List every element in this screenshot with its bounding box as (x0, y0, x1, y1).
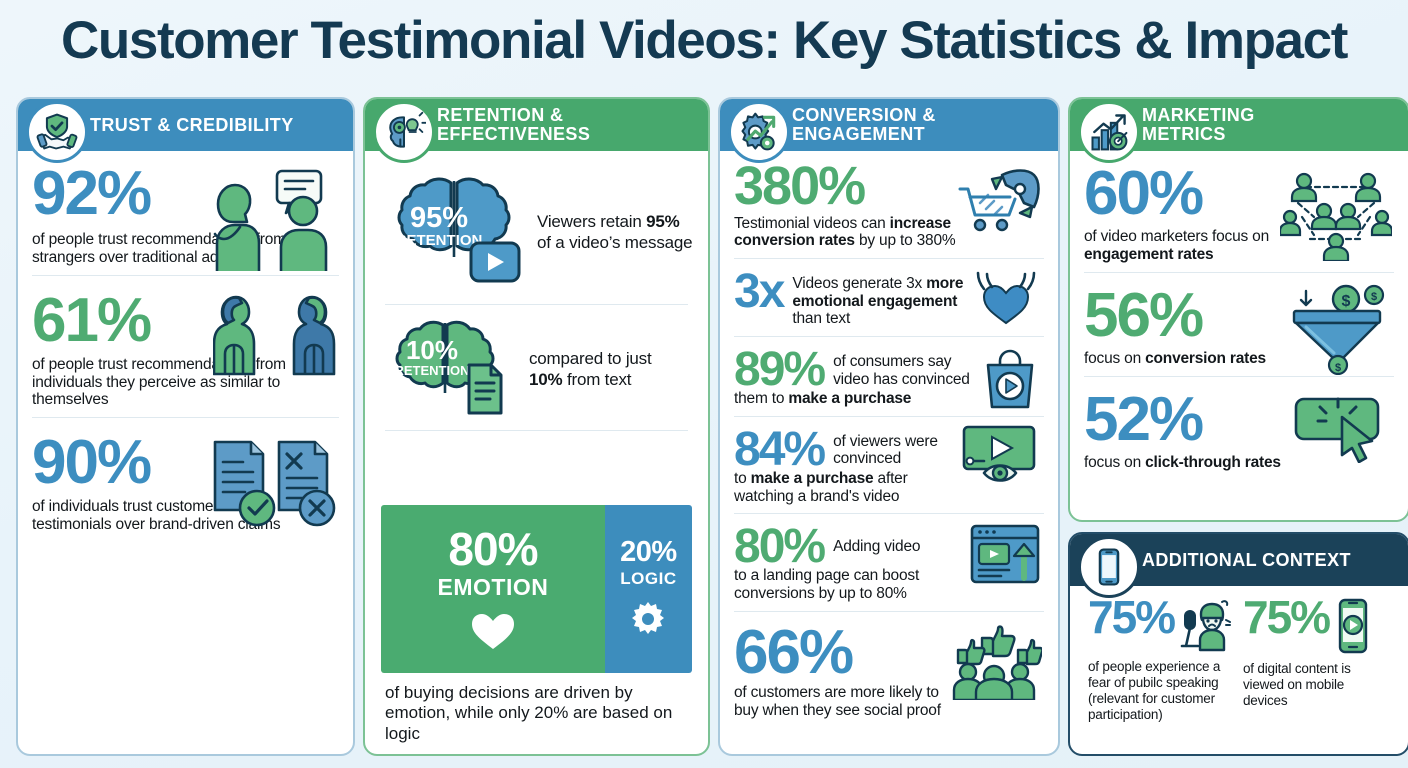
stat-66: 66% of customers are more likely to buy … (734, 611, 1044, 726)
column-retention: RETENTION & EFFECTIVENESS 95% RETENTION (363, 97, 710, 756)
stat-61: 61% of people trust recommendations from… (32, 275, 339, 415)
stat-row: 75% (1088, 596, 1235, 657)
gear-icon (628, 599, 668, 639)
rocket-cart-icon (958, 167, 1042, 241)
stat-value: 3x (734, 269, 783, 314)
split-emotion: 80% EMOTION (381, 505, 605, 673)
panel-marketing-metrics: MARKETING METRICS (1068, 97, 1408, 522)
stat-75-fear: 75% (1088, 596, 1235, 723)
split-bar: 80% EMOTION 20% LOGIC (381, 505, 692, 673)
svg-text:RETENTION: RETENTION (396, 232, 483, 249)
phone-play-icon (1331, 598, 1375, 659)
brain-document-icon: 10% RETENTION (385, 319, 515, 420)
stat-52: 52% focus on click-through rates (1084, 376, 1394, 478)
svg-text:10%: 10% (406, 335, 458, 365)
stat-95-retention: 95% RETENTION Viewers retain 95% of a vi… (379, 161, 694, 300)
shopping-bag-play-icon (978, 345, 1042, 411)
additional-two-up: 75% (1084, 590, 1394, 727)
thumbs-up-crowd-icon (946, 624, 1042, 700)
svg-text:RETENTION: RETENTION (394, 363, 469, 378)
stat-caption-cont: them to make a purchase (734, 390, 964, 408)
emotion-value: 80% (448, 526, 537, 572)
heart-signal-icon (970, 267, 1042, 327)
stat-75-mobile: 75% (1243, 596, 1390, 723)
shield-handshake-icon (26, 101, 88, 163)
panel-additional-context: ADDITIONAL CONTEXT 75% (1068, 532, 1408, 756)
stat-10-retention: 10% RETENTION compared to just10% from t… (379, 309, 694, 426)
logic-value: 20% (620, 538, 677, 567)
panel-retention-effectiveness: RETENTION & EFFECTIVENESS 95% RETENTION (363, 97, 710, 756)
panel-body-additional: 75% (1070, 586, 1408, 754)
stat-row: 75% (1243, 596, 1390, 659)
panel-body-conversion: 380% Testimonial videos can increase con… (720, 151, 1058, 754)
funnel-money-icon: $ $ $ (1284, 283, 1392, 375)
stat-90: 90% of individuals trust customer testim… (32, 417, 339, 540)
emotion-label: EMOTION (438, 574, 549, 601)
people-talking-icon (205, 165, 337, 273)
heart-icon (470, 611, 516, 651)
two-people-facing-icon (213, 290, 337, 376)
panel-body-trust: 92% of people trust recommendations from… (18, 151, 353, 754)
stat-caption-cont: to a landing page can boost conversions … (734, 567, 964, 602)
logic-label: LOGIC (620, 569, 676, 589)
stat-caption: Viewers retain 95% of a video’s message (537, 212, 694, 253)
divider (385, 304, 688, 305)
person-microphone-icon (1176, 598, 1242, 657)
smartphone-icon (1078, 536, 1140, 598)
stat-56: $ $ $ 56% focu (1084, 272, 1394, 374)
stat-84: 84% of viewers were convinced to make a … (734, 416, 1044, 511)
stat-60: 60% of video marketers focus on engageme… (1084, 161, 1394, 270)
stat-value: 89% (734, 347, 824, 392)
panel-body-marketing: 60% of video marketers focus on engageme… (1070, 151, 1408, 520)
stat-3x: 3x Videos generate 3x more emotional eng… (734, 258, 1044, 334)
panel-trust-credibility: TRUST & CREDIBILITY (16, 97, 355, 756)
split-caption: of buying decisions are driven by emotio… (379, 673, 694, 746)
documents-check-cross-icon (207, 436, 337, 532)
stat-caption: of viewers were convinced (833, 427, 963, 468)
stat-value: 75% (1088, 596, 1174, 639)
emotion-logic-block: 80% EMOTION 20% LOGIC (379, 501, 694, 746)
stat-89: 89% of consumers say video has convinced… (734, 336, 1044, 414)
network-people-icon (1280, 169, 1392, 261)
stat-80-landing: 80% Adding video to a landing page can b… (734, 513, 1044, 608)
stat-caption: of people experience a fear of pubilc sp… (1088, 659, 1235, 723)
stat-value: 80% (734, 524, 824, 569)
panel-conversion-engagement: CONVERSION & ENGAGEMENT (718, 97, 1060, 756)
svg-text:95%: 95% (410, 202, 468, 234)
gear-chart-arrow-icon (728, 101, 790, 163)
stat-caption: compared to just10% from text (529, 349, 651, 390)
svg-text:$: $ (1371, 291, 1377, 303)
stat-value: 75% (1243, 596, 1329, 639)
stat-caption: Videos generate 3x more emotional engage… (792, 269, 967, 328)
stat-caption: Testimonial videos can increase conversi… (734, 215, 984, 250)
svg-text:$: $ (1342, 293, 1351, 310)
column-trust: TRUST & CREDIBILITY (16, 97, 355, 756)
video-eye-icon (958, 423, 1042, 489)
stat-caption: of consumers say video has convinced (833, 347, 978, 388)
column-conversion: CONVERSION & ENGAGEMENT (718, 97, 1060, 756)
brain-lightbulb-icon (373, 101, 435, 163)
column-marketing: MARKETING METRICS (1068, 97, 1408, 756)
split-logic: 20% LOGIC (605, 505, 692, 673)
panel-body-retention: 95% RETENTION Viewers retain 95% of a vi… (365, 151, 708, 754)
stat-380: 380% Testimonial videos can increase con… (734, 157, 1044, 256)
stat-caption: of digital content is viewed on mobile d… (1243, 661, 1390, 709)
columns-container: TRUST & CREDIBILITY (16, 97, 1392, 756)
infographic-page: Customer Testimonial Videos: Key Statist… (0, 0, 1408, 768)
brain-play-icon: 95% RETENTION (385, 171, 523, 294)
click-cursor-icon (1292, 391, 1392, 463)
divider (385, 430, 688, 431)
stat-value: 84% (734, 427, 824, 472)
stat-caption: of customers are more likely to buy when… (734, 684, 966, 719)
landing-page-arrow-icon (968, 522, 1042, 588)
stat-caption: Adding video (833, 524, 920, 556)
svg-text:$: $ (1335, 362, 1341, 374)
page-title: Customer Testimonial Videos: Key Statist… (0, 0, 1408, 67)
stat-caption: of video marketers focus on engagement r… (1084, 228, 1299, 263)
stat-caption-cont: to make a purchase after watching a bran… (734, 470, 964, 505)
stat-92: 92% of people trust recommendations from… (32, 161, 339, 273)
bar-chart-target-icon (1078, 101, 1140, 163)
